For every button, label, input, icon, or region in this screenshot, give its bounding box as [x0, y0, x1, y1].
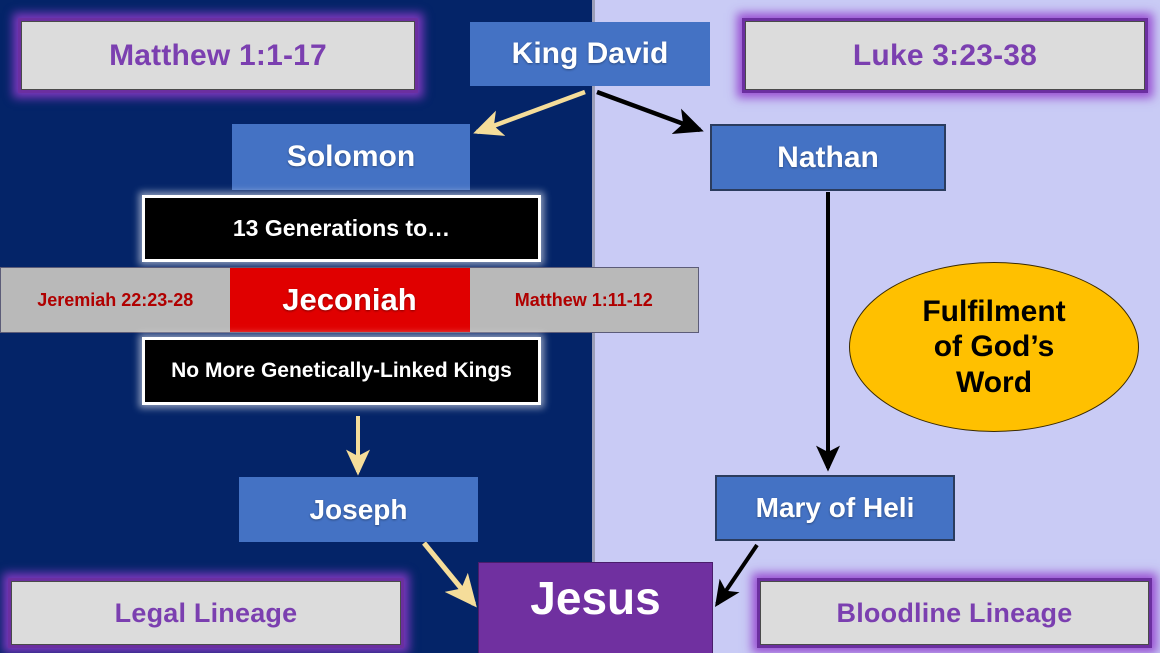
person-box-joseph[interactable]: Joseph	[239, 477, 478, 542]
callout-13-generations[interactable]: 13 Generations to…	[142, 195, 541, 262]
jeconiah-label: Jeconiah	[282, 282, 416, 318]
reference-luke-label: Luke 3:23-38	[853, 39, 1037, 73]
reference-matthew-label: Matthew 1:1-17	[109, 39, 327, 73]
king-david-label: King David	[512, 37, 669, 71]
fulfilment-ellipse[interactable]: Fulfilment of God’s Word	[849, 262, 1139, 432]
person-box-king-david[interactable]: King David	[470, 22, 710, 86]
joseph-label: Joseph	[309, 494, 407, 526]
jeremiah-reference-label: Jeremiah 22:23-28	[37, 290, 193, 311]
callout-no-more-kings[interactable]: No More Genetically-Linked Kings	[142, 337, 541, 405]
ellipse-line-2: of God’s	[922, 329, 1065, 364]
ellipse-line-3: Word	[922, 365, 1065, 400]
no-more-kings-label: No More Genetically-Linked Kings	[171, 359, 512, 383]
jeconiah-curse-strip: Jeremiah 22:23-28 Jeconiah Matthew 1:11-…	[0, 267, 699, 333]
label-box-bloodline-lineage[interactable]: Bloodline Lineage	[757, 578, 1152, 648]
solomon-label: Solomon	[287, 140, 415, 174]
bloodline-lineage-label: Bloodline Lineage	[837, 598, 1073, 629]
person-box-mary-of-heli[interactable]: Mary of Heli	[715, 475, 955, 541]
nathan-label: Nathan	[777, 141, 879, 175]
legal-lineage-label: Legal Lineage	[115, 598, 298, 629]
jeremiah-reference-cell[interactable]: Jeremiah 22:23-28	[1, 290, 230, 311]
diagram-canvas: Matthew 1:1-17 Luke 3:23-38 King David S…	[0, 0, 1160, 653]
reference-box-matthew[interactable]: Matthew 1:1-17	[18, 18, 418, 93]
ellipse-line-1: Fulfilment	[922, 294, 1065, 329]
generations-label: 13 Generations to…	[233, 215, 450, 242]
person-box-solomon[interactable]: Solomon	[232, 124, 470, 190]
label-box-legal-lineage[interactable]: Legal Lineage	[8, 578, 404, 648]
matthew-reference-cell[interactable]: Matthew 1:11-12	[470, 290, 699, 311]
jesus-label: Jesus	[530, 571, 660, 625]
person-box-jesus[interactable]: Jesus	[478, 562, 713, 653]
person-box-nathan[interactable]: Nathan	[710, 124, 946, 191]
reference-box-luke[interactable]: Luke 3:23-38	[742, 18, 1148, 93]
matthew-1-11-12-label: Matthew 1:11-12	[515, 290, 653, 311]
jeconiah-box[interactable]: Jeconiah	[230, 268, 470, 332]
mary-of-heli-label: Mary of Heli	[756, 492, 915, 524]
